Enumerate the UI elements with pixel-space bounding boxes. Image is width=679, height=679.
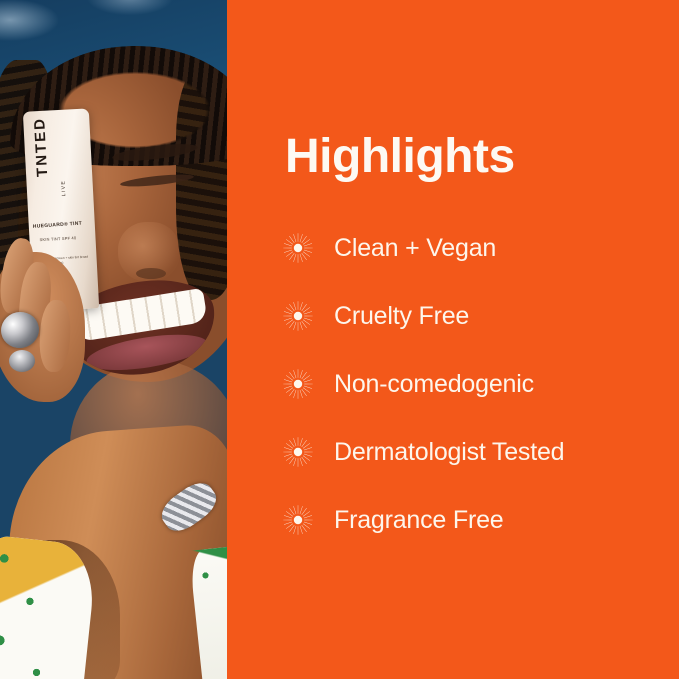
list-item-label: Non-comedogenic [334,370,534,399]
sunburst-icon [283,233,313,263]
list-item: Dermatologist Tested [283,430,663,474]
product-subbrand-text: LIVE [60,180,67,197]
product-name-text: HUEGUARD® TINT [33,220,83,229]
list-item-label: Dermatologist Tested [334,438,564,467]
sunburst-icon [283,437,313,467]
nostril [136,268,166,279]
product-brand-text: TNTED [31,116,60,177]
highlights-list: Clean + Vegan Cruelty Free Non-comedogen… [283,226,663,566]
list-item: Clean + Vegan [283,226,663,270]
list-item-label: Clean + Vegan [334,234,496,263]
highlights-panel: Highlights Clean + Vegan Cruelty Free No… [227,0,679,679]
list-item: Non-comedogenic [283,362,663,406]
sunburst-icon [283,301,313,331]
sunburst-icon [283,369,313,399]
sunburst-icon [283,505,313,535]
list-item-label: Cruelty Free [334,302,469,331]
silver-ring [9,350,35,372]
page-title: Highlights [285,133,515,181]
list-item: Cruelty Free [283,294,663,338]
patterned-shirt-left [0,535,98,679]
list-item: Fragrance Free [283,498,663,542]
highlights-banner: TNTED LIVE HUEGUARD® TINT SKIN TINT SPF … [0,0,679,679]
list-item-label: Fragrance Free [334,506,504,535]
product-spf-text: SKIN TINT SPF 40 [39,235,76,242]
shirt-pattern [0,535,98,679]
product-lifestyle-photo: TNTED LIVE HUEGUARD® TINT SKIN TINT SPF … [0,0,227,679]
